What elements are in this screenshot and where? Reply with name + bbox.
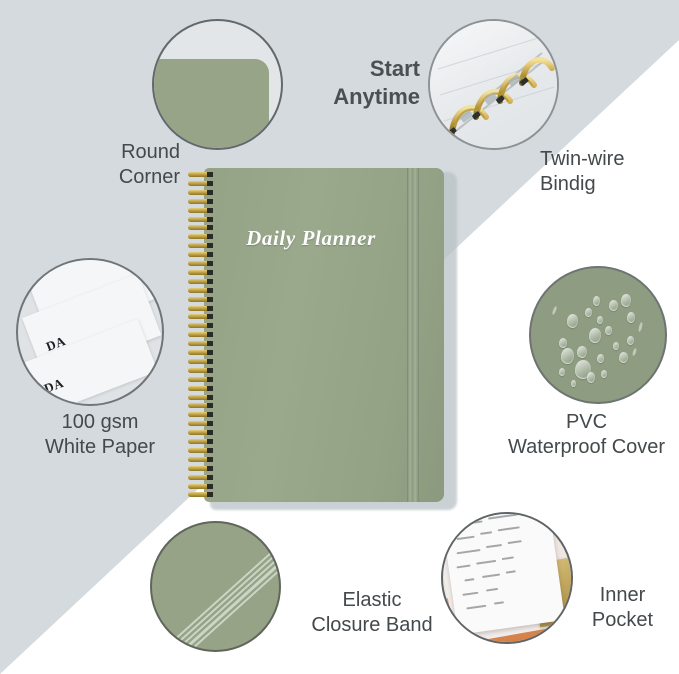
wire-coil-ring — [188, 430, 208, 435]
wire-coil — [188, 261, 214, 266]
water-droplet — [589, 328, 601, 343]
wire-coil-ring — [188, 252, 208, 257]
wire-coil-hole — [207, 492, 213, 497]
wire-coil — [188, 252, 214, 257]
wire-coil — [188, 217, 214, 222]
wire-coil-hole — [207, 448, 213, 453]
wire-coil — [188, 492, 214, 497]
wire-coil — [188, 181, 214, 186]
wire-coil-ring — [188, 475, 208, 480]
wire-coil-hole — [207, 234, 213, 239]
water-droplet — [605, 326, 612, 335]
wire-coil — [188, 430, 214, 435]
wire-coil-ring — [188, 466, 208, 471]
wire-coil-hole — [207, 377, 213, 382]
wire-coil-hole — [207, 430, 213, 435]
wire-coil — [188, 359, 214, 364]
wire-coil-hole — [207, 484, 213, 489]
water-droplet-tail — [632, 348, 637, 357]
water-droplet — [593, 296, 600, 306]
wire-coil — [188, 439, 214, 444]
wire-coil-ring — [188, 234, 208, 239]
wire-coil-ring — [188, 181, 208, 186]
wire-coil-ring — [188, 243, 208, 248]
wire-coil-ring — [188, 323, 208, 328]
wire-coil-hole — [207, 279, 213, 284]
wire-coil — [188, 243, 214, 248]
water-droplet — [601, 370, 607, 378]
wire-coil-ring — [188, 421, 208, 426]
wire-coil-ring — [188, 403, 208, 408]
wire-coil-ring — [188, 492, 208, 497]
white-paper-detail-circle: DAILY PL Top Priorities DA Top Pri DA op… — [16, 258, 164, 406]
label-twin-wire-binding: Twin-wire Bindig — [540, 147, 679, 197]
notebook-twin-wire-spine — [188, 168, 212, 502]
wire-coil-hole — [207, 466, 213, 471]
water-droplet — [561, 348, 574, 364]
water-droplet — [571, 380, 576, 387]
wire-coil — [188, 421, 214, 426]
wire-coil — [188, 341, 214, 346]
water-droplet-tail — [638, 322, 643, 332]
notebook-cover-title: Daily Planner — [204, 226, 418, 251]
wire-coil-ring — [188, 208, 208, 213]
wire-coil-ring — [188, 457, 208, 462]
water-droplet — [597, 316, 603, 324]
planner-page-front — [441, 512, 565, 635]
wire-coil-ring — [188, 395, 208, 400]
wire-coil-hole — [207, 190, 213, 195]
wire-coil — [188, 448, 214, 453]
wire-coil-hole — [207, 386, 213, 391]
wire-coil-hole — [207, 181, 213, 186]
wire-coil-ring — [188, 288, 208, 293]
label-pvc-waterproof-cover: PVC Waterproof Cover — [494, 410, 679, 460]
wire-coil-hole — [207, 395, 213, 400]
wire-coil-ring — [188, 225, 208, 230]
water-droplet — [627, 336, 634, 345]
water-droplet — [559, 368, 565, 376]
wire-coil-hole — [207, 368, 213, 373]
wire-coil-hole — [207, 225, 213, 230]
wire-coil-ring — [188, 217, 208, 222]
wire-coil-ring — [188, 359, 208, 364]
wire-coil — [188, 386, 214, 391]
wire-coil-ring — [188, 484, 208, 489]
wire-coil-hole — [207, 439, 213, 444]
wire-coil — [188, 288, 214, 293]
twin-wire-coils-illustration — [430, 21, 559, 150]
wire-coil — [188, 412, 214, 417]
wire-coil-hole — [207, 314, 213, 319]
wire-coil — [188, 314, 214, 319]
wire-coil — [188, 172, 214, 177]
wire-coil-hole — [207, 306, 213, 311]
wire-coil — [188, 234, 214, 239]
wire-coil — [188, 199, 214, 204]
infographic-canvas: Round Corner Start Anytime — [0, 0, 679, 674]
label-elastic-closure-band: Elastic Closure Band — [287, 588, 457, 638]
wire-coil-ring — [188, 297, 208, 302]
wire-coil-ring — [188, 306, 208, 311]
wire-coil — [188, 208, 214, 213]
wire-coil-ring — [188, 439, 208, 444]
wire-coil-ring — [188, 270, 208, 275]
wire-coil — [188, 377, 214, 382]
pvc-waterproof-detail-circle — [529, 266, 667, 404]
wire-coil — [188, 350, 214, 355]
wire-coil-ring — [188, 377, 208, 382]
water-droplet — [613, 342, 619, 350]
wire-coil — [188, 368, 214, 373]
water-droplet — [587, 372, 595, 383]
rounded-corner-swatch — [154, 59, 269, 150]
water-droplet — [609, 300, 618, 311]
wire-coil — [188, 297, 214, 302]
label-inner-pocket: Inner Pocket — [570, 583, 675, 633]
wire-coil-hole — [207, 243, 213, 248]
wire-coil-hole — [207, 288, 213, 293]
wire-coil — [188, 323, 214, 328]
wire-coil — [188, 403, 214, 408]
wire-coil-ring — [188, 368, 208, 373]
wire-coil-hole — [207, 341, 213, 346]
planner-notebook: Daily Planner — [204, 168, 451, 506]
label-white-paper: 100 gsm White Paper — [10, 410, 190, 460]
inner-pocket-detail-circle — [441, 512, 573, 644]
wire-coil-hole — [207, 421, 213, 426]
wire-coil-ring — [188, 172, 208, 177]
wire-coil-hole — [207, 412, 213, 417]
wire-coil-hole — [207, 457, 213, 462]
wire-coil — [188, 279, 214, 284]
wire-coil-hole — [207, 297, 213, 302]
label-start-anytime: Start Anytime — [270, 55, 420, 111]
wire-coil-hole — [207, 261, 213, 266]
wire-coil-ring — [188, 350, 208, 355]
label-round-corner: Round Corner — [20, 140, 180, 190]
wire-coil-hole — [207, 350, 213, 355]
wire-coil-hole — [207, 217, 213, 222]
wire-coil — [188, 484, 214, 489]
elastic-band-detail-circle — [150, 521, 281, 652]
wire-coil — [188, 190, 214, 195]
wire-coil-hole — [207, 403, 213, 408]
wire-coil-ring — [188, 448, 208, 453]
notebook-elastic-band — [407, 168, 419, 502]
water-droplet — [577, 346, 587, 358]
round-corner-detail-circle — [152, 19, 283, 150]
water-droplet-tail — [551, 306, 557, 315]
water-droplet — [621, 294, 631, 307]
water-droplet — [627, 312, 635, 323]
wire-coil — [188, 457, 214, 462]
wire-coil-ring — [188, 199, 208, 204]
wire-coil-ring — [188, 279, 208, 284]
wire-coil-hole — [207, 172, 213, 177]
wire-coil-ring — [188, 314, 208, 319]
wire-coil-ring — [188, 332, 208, 337]
wire-coil — [188, 225, 214, 230]
wire-coil-hole — [207, 208, 213, 213]
wire-coil-hole — [207, 323, 213, 328]
wire-coil-hole — [207, 252, 213, 257]
twin-wire-detail-circle — [428, 19, 559, 150]
water-droplet — [559, 338, 567, 348]
wire-coil-hole — [207, 199, 213, 204]
wire-coil-ring — [188, 412, 208, 417]
wire-coil-ring — [188, 190, 208, 195]
wire-coil-hole — [207, 359, 213, 364]
wire-coil — [188, 306, 214, 311]
water-droplet — [597, 354, 604, 363]
wire-coil — [188, 466, 214, 471]
wire-coil-ring — [188, 261, 208, 266]
wire-coil — [188, 475, 214, 480]
water-droplet — [567, 314, 578, 328]
water-droplet — [585, 308, 592, 317]
wire-coil-hole — [207, 475, 213, 480]
water-droplet — [619, 352, 628, 363]
wire-coil — [188, 395, 214, 400]
wire-coil-ring — [188, 341, 208, 346]
wire-coil-hole — [207, 270, 213, 275]
notebook-front-cover: Daily Planner — [204, 168, 444, 502]
wire-coil-ring — [188, 386, 208, 391]
wire-coil — [188, 332, 214, 337]
wire-coil — [188, 270, 214, 275]
wire-coil-hole — [207, 332, 213, 337]
